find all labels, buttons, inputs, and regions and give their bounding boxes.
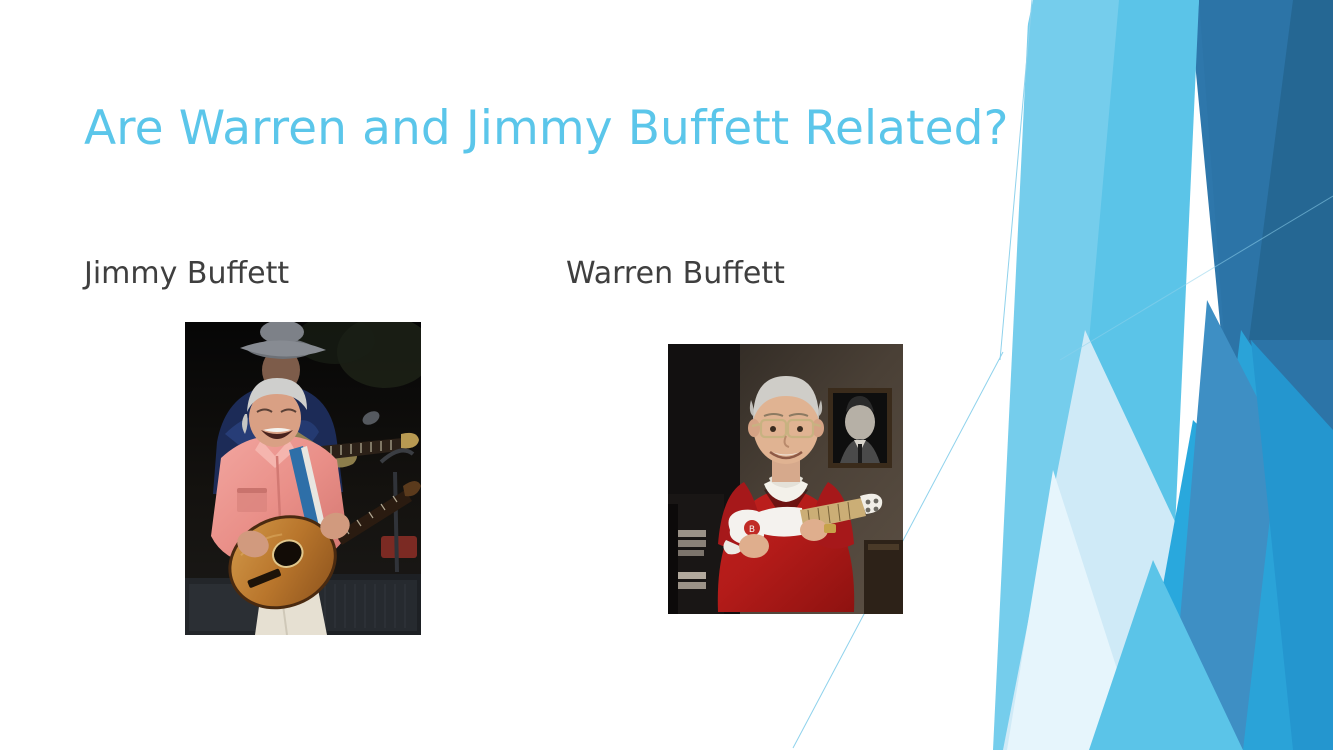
label-jimmy-buffett: Jimmy Buffett: [84, 256, 289, 292]
decor-shape-medium-lower: [1133, 420, 1333, 750]
warren-buffett-photo: B: [668, 344, 903, 614]
decor-shape-light-band: [993, 0, 1199, 750]
decor-shape-dark-right: [1189, 0, 1333, 750]
decor-shape-sky-wedge: [1053, 0, 1199, 750]
decor-shape-pale-fan: [1003, 330, 1193, 750]
decor-shape-white-notch: [993, 0, 1033, 190]
decorative-angular-graphic: [993, 0, 1333, 750]
decor-shape-paler-fan: [1007, 470, 1143, 750]
decor-shape-accent-right: [1251, 340, 1333, 750]
hairline-cross: [1060, 196, 1333, 360]
hairline-upper: [1000, 0, 1032, 360]
label-warren-buffett: Warren Buffett: [566, 256, 785, 292]
svg-text:B: B: [749, 525, 755, 535]
jimmy-buffett-photo: [185, 322, 421, 635]
presentation-slide: Are Warren and Jimmy Buffett Related? Ji…: [0, 0, 1333, 750]
slide-title: Are Warren and Jimmy Buffett Related?: [84, 101, 1014, 156]
jimmy-buffett-photo-art: [185, 322, 421, 635]
decor-shape-deep-wedge: [1199, 0, 1333, 750]
decor-shape-bottom-sliver: [1089, 560, 1243, 750]
decor-shape-steel-wedge: [1169, 300, 1279, 750]
decor-shape-deep-spike: [1249, 0, 1333, 340]
decor-shape-medium-right: [1189, 330, 1333, 750]
decor-shapes-svg: [993, 0, 1333, 750]
warren-buffett-photo-art: B: [668, 344, 903, 614]
